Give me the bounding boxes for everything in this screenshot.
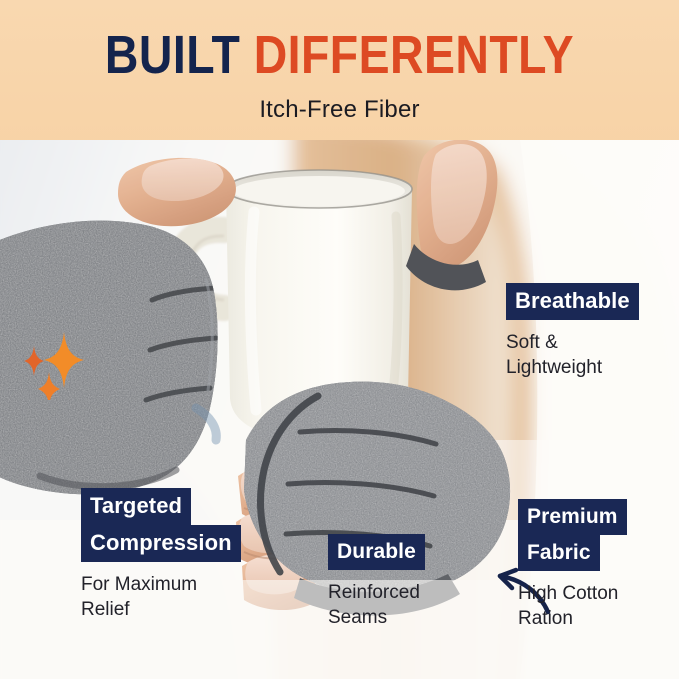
callout-durable-description: Reinforced Seams <box>328 570 425 630</box>
sparkle-star-icon <box>22 328 86 400</box>
page-subtitle: Itch-Free Fiber <box>0 84 679 124</box>
page-title: BUILT DIFFERENTLY <box>48 0 632 84</box>
badge-line: Breathable <box>506 283 639 320</box>
callout-premium-fabric-description: High Cotton Ration <box>518 571 627 631</box>
page-title-part-built: BUILT <box>105 25 240 85</box>
page-title-part-differently: DIFFERENTLY <box>254 25 574 85</box>
callout-breathable-description: Soft & Lightweight <box>506 320 639 380</box>
badge-line: Fabric <box>518 535 600 571</box>
badge-line: Targeted <box>81 488 191 525</box>
callout-targeted-compression: Targeted Compression For Maximum Relief <box>81 488 241 622</box>
callout-durable-badge: Durable <box>328 534 425 570</box>
callout-breathable: Breathable Soft & Lightweight <box>506 283 639 380</box>
callout-durable: Durable Reinforced Seams <box>328 534 425 630</box>
product-infographic: BUILT DIFFERENTLY Itch-Free Fiber <box>0 0 679 679</box>
badge-line: Durable <box>328 534 425 570</box>
badge-line: Premium <box>518 499 627 535</box>
callout-targeted-compression-description: For Maximum Relief <box>81 562 241 622</box>
sparkle-decoration <box>22 328 86 405</box>
callout-premium-fabric-badge: Premium Fabric <box>518 499 627 571</box>
header-text-block: BUILT DIFFERENTLY Itch-Free Fiber <box>0 0 679 124</box>
callout-premium-fabric: Premium Fabric High Cotton Ration <box>518 499 627 631</box>
badge-line: Compression <box>81 525 241 562</box>
callout-targeted-compression-badge: Targeted Compression <box>81 488 241 562</box>
callout-breathable-badge: Breathable <box>506 283 639 320</box>
